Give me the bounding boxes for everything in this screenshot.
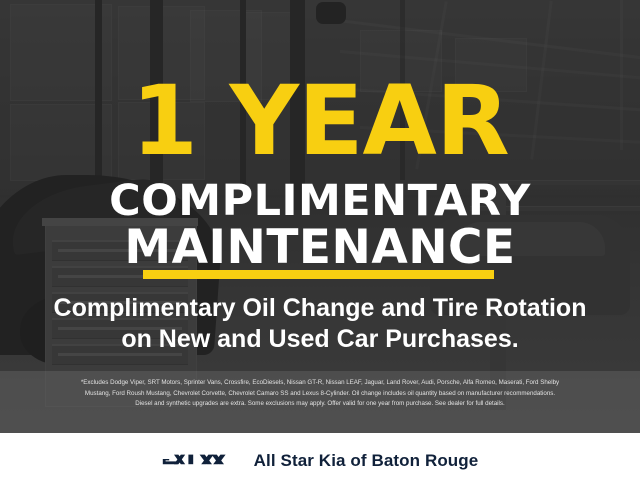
yellow-divider-bar	[143, 270, 494, 279]
headline-maintenance: MAINTENANCE	[0, 224, 640, 271]
headline-complimentary: COMPLIMENTARY	[0, 180, 640, 223]
dealer-name: All Star Kia of Baton Rouge	[254, 451, 479, 471]
dealer-footer-bar: All Star Kia of Baton Rouge	[0, 433, 640, 488]
headline-year: 1 YEAR	[0, 73, 640, 169]
disclaimer-text: *Excludes Dodge Viper, SRT Motors, Sprin…	[0, 371, 640, 433]
promo-banner: 1 YEAR COMPLIMENTARY MAINTENANCE Complim…	[0, 0, 640, 488]
subheadline-line-2: on New and Used Car Purchases.	[0, 324, 640, 355]
disclaimer-line: *Excludes Dodge Viper, SRT Motors, Sprin…	[0, 378, 640, 389]
ad-content: 1 YEAR COMPLIMENTARY MAINTENANCE Complim…	[0, 0, 640, 433]
disclaimer-line: Diesel and synthetic upgrades are extra.…	[0, 399, 640, 410]
subheadline-line-1: Complimentary Oil Change and Tire Rotati…	[0, 293, 640, 324]
disclaimer-line: Mustang, Ford Roush Mustang, Chevrolet C…	[0, 389, 640, 400]
kia-logo	[162, 451, 236, 471]
